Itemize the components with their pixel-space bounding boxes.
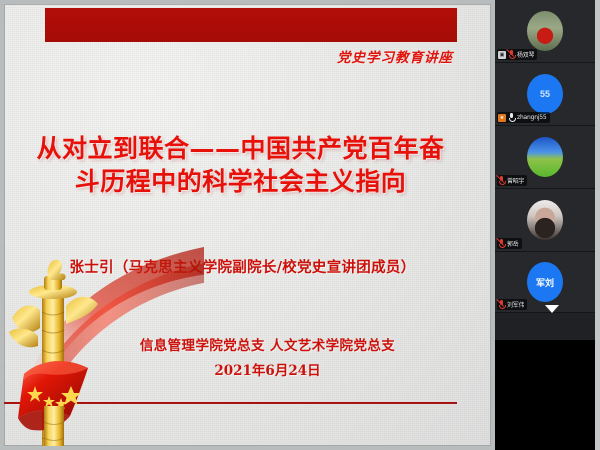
avatar: 55	[527, 74, 563, 114]
participant-name: 杨双琴	[517, 50, 534, 59]
host-badge-icon: ★	[498, 114, 506, 122]
participant-tile-3[interactable]: 曾昭宇	[495, 126, 595, 189]
chevron-down-icon[interactable]	[545, 305, 559, 313]
participant-nameplate: ▣ 杨双琴	[497, 49, 537, 60]
avatar	[527, 200, 563, 240]
slide-top-red-banner	[45, 8, 457, 42]
participant-name: 郭岳	[507, 239, 519, 248]
presentation-slide: 党史学习教育讲座 从对立到联合——中国共产党百年奋 斗历程中的科学社会主义指向 …	[4, 4, 491, 446]
slide-title: 从对立到联合——中国共产党百年奋 斗历程中的科学社会主义指向	[4, 132, 477, 198]
mic-muted-icon	[498, 300, 505, 309]
participant-tile-5[interactable]: 军刘 刘军伟	[495, 252, 595, 313]
sidebar-empty-area	[495, 340, 595, 450]
participant-nameplate: ★ zhangnj55	[497, 112, 550, 123]
participant-tile-2[interactable]: 55 ★ zhangnj55	[495, 63, 595, 126]
window-right-edge	[595, 0, 600, 450]
screen-share-icon: ▣	[498, 51, 506, 59]
shared-screen-area[interactable]: 党史学习教育讲座 从对立到联合——中国共产党百年奋 斗历程中的科学社会主义指向 …	[0, 0, 495, 450]
slide-divider-rule	[4, 402, 457, 404]
slide-title-line-1: 从对立到联合——中国共产党百年奋	[4, 132, 477, 165]
participant-nameplate: 郭岳	[497, 238, 522, 249]
participant-name: 刘军伟	[507, 300, 524, 309]
participant-name: 曾昭宇	[507, 176, 524, 185]
avatar: 军刘	[527, 262, 563, 302]
avatar	[527, 11, 563, 51]
participant-tile-1[interactable]: ▣ 杨双琴	[495, 0, 595, 63]
participant-tile-4[interactable]: 郭岳	[495, 189, 595, 252]
slide-organizations: 信息管理学院党总支 人文艺术学院党总支	[64, 334, 471, 354]
participant-nameplate: 刘军伟	[497, 299, 527, 310]
slide-date: 2021年6月24日	[64, 359, 471, 379]
participant-video-sidebar[interactable]: ▣ 杨双琴 55 ★ zhangnj55 曾昭宇	[495, 0, 600, 450]
slide-title-line-2: 斗历程中的科学社会主义指向	[4, 165, 477, 198]
mic-muted-icon	[508, 50, 515, 59]
slide-speaker: 张士引（马克思主义学院副院长/校党史宣讲团成员）	[4, 256, 481, 277]
participant-nameplate: 曾昭宇	[497, 175, 527, 186]
mic-muted-icon	[498, 176, 505, 185]
video-conference-window: 党史学习教育讲座 从对立到联合——中国共产党百年奋 斗历程中的科学社会主义指向 …	[0, 0, 600, 450]
avatar	[527, 137, 563, 177]
mic-muted-icon	[498, 239, 505, 248]
mic-icon	[508, 113, 515, 122]
participant-name: zhangnj55	[517, 114, 547, 121]
participant-tiles: ▣ 杨双琴 55 ★ zhangnj55 曾昭宇	[495, 0, 595, 340]
slide-header-note: 党史学习教育讲座	[337, 46, 453, 66]
